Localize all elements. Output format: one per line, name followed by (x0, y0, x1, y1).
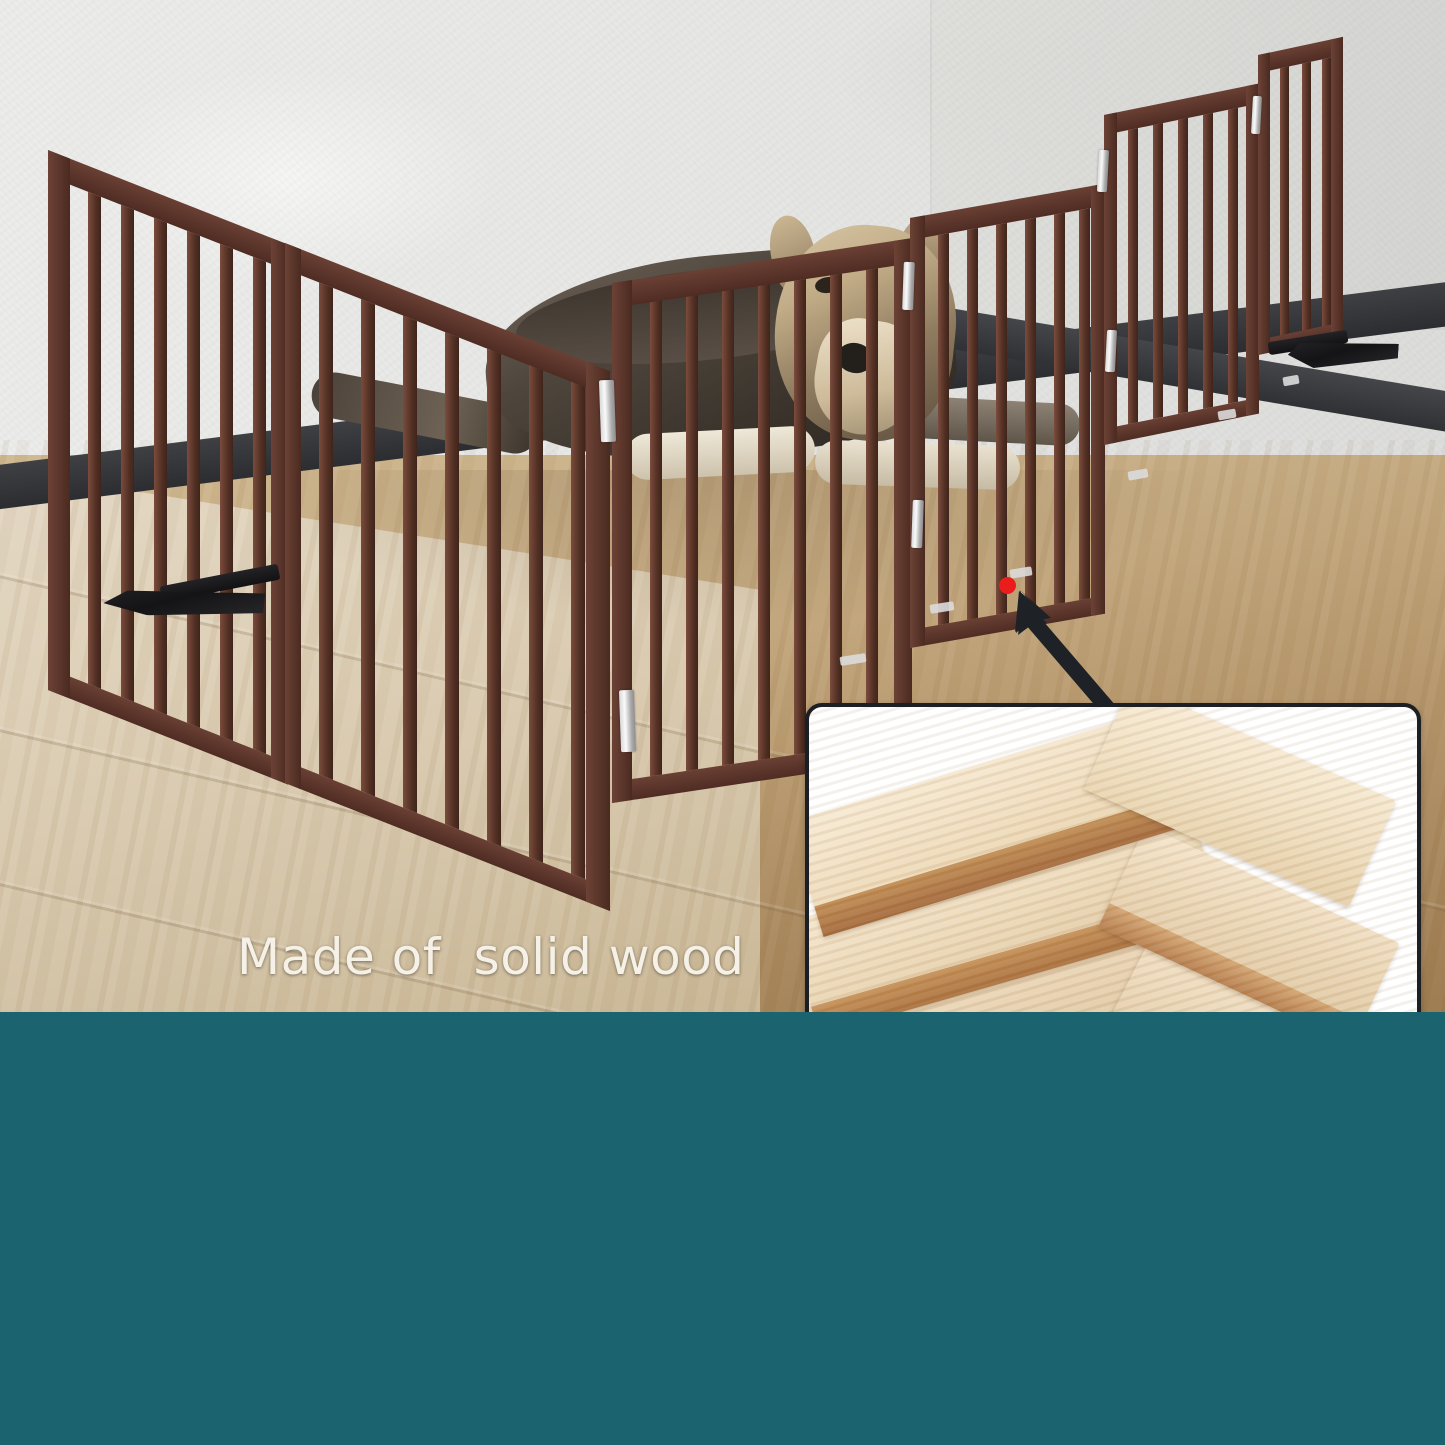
gate-panel-2 (285, 243, 610, 911)
hinge-upper (599, 380, 616, 442)
gate-panel-1 (48, 150, 288, 785)
hinge-panel4-lower (911, 500, 924, 548)
glide-pad-5 (1217, 409, 1236, 421)
gate-panel-5 (1104, 83, 1259, 445)
hinge-panel4-upper (902, 262, 915, 310)
product-photo: Made of solid wood (0, 0, 1445, 1012)
hinge-lower (619, 690, 636, 752)
glide-pad-6 (1282, 375, 1299, 387)
gate-panel-6 (1258, 37, 1343, 355)
inset-solid-wood-photo (805, 703, 1421, 1012)
headline-made-of-solid-wood: Made of solid wood (237, 928, 745, 986)
glide-pad-4 (1127, 468, 1148, 480)
feature-block: 1. Limit your pet from running around 2.… (0, 1012, 1445, 1445)
product-infographic: Made of solid wood 1. Limit your pet fro… (0, 0, 1445, 1445)
